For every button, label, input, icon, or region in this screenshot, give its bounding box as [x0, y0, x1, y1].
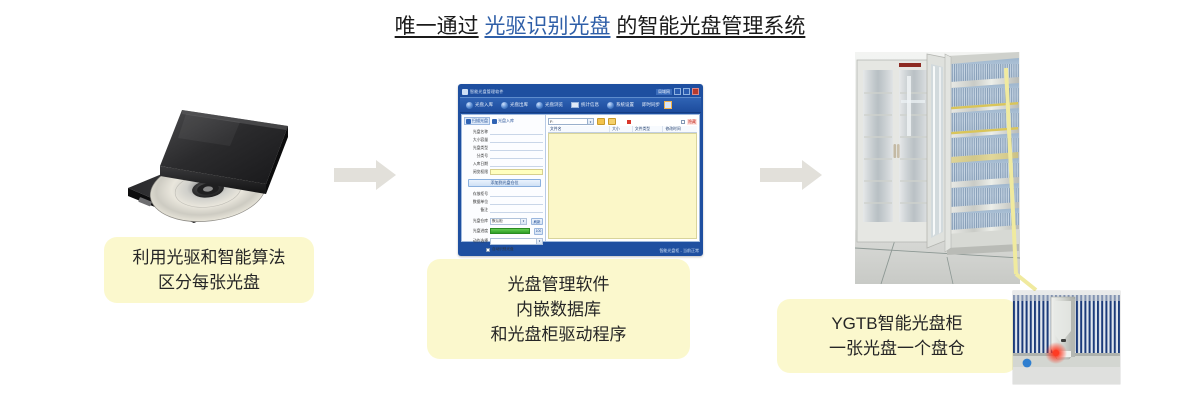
field-label: 大小容量 — [464, 138, 488, 143]
field-label: 光盘进度 — [464, 229, 488, 234]
chevron-down-icon: ▾ — [587, 119, 593, 124]
remark-input[interactable] — [490, 207, 543, 213]
drive-path-value: F: — [549, 120, 587, 124]
field-label: 分类号 — [464, 154, 488, 159]
field-label: 阅览权限 — [464, 170, 488, 175]
disc-store-value: 默认柜 — [491, 219, 520, 224]
folder-open-icon[interactable] — [608, 118, 616, 125]
field-capacity: 大小容量 — [464, 136, 543, 144]
page-title: 唯一通过 光驱识别光盘 的智能光盘管理系统 — [0, 14, 1200, 40]
column-header-size[interactable]: 大小 — [610, 126, 633, 132]
permission-input[interactable] — [490, 169, 543, 175]
field-label: 存放柜号 — [464, 192, 488, 197]
category-no-input[interactable] — [490, 153, 543, 159]
disc-type-input[interactable] — [490, 145, 543, 151]
field-progress: 光盘进度 100 — [464, 227, 543, 235]
app-status-bar: 智能光盘柜 - 当前正常 — [458, 245, 703, 256]
field-label: 数据单位 — [464, 200, 488, 205]
caption-left-line-1: 利用光驱和智能算法 — [133, 245, 286, 270]
disc-management-software-screenshot: 智能光盘管理软件 局域网 光盘入库 光盘出库 光盘浏览 — [458, 84, 703, 256]
field-permission: 阅览权限 — [464, 168, 543, 176]
gear-icon — [607, 102, 614, 109]
app-body: 扫描光盘 光盘入库 光盘名称 大小容量 光盘类型 — [461, 114, 700, 242]
field-in-date: 入库日期 — [464, 160, 543, 168]
caption-middle-line-2: 内嵌数据库 — [516, 297, 601, 322]
field-disc-type: 光盘类型 — [464, 144, 543, 152]
file-browser-panel: F: ▾ 隐藏 文件名 大小 文件类型 修改时间 — [546, 115, 699, 241]
title-part2: 的智能光盘管理系统 — [616, 15, 805, 38]
laser-led-icon — [1053, 350, 1059, 356]
field-label: 光盘名称 — [464, 130, 488, 135]
hide-files-label: 隐藏 — [687, 119, 697, 125]
disc-browse-icon — [536, 102, 543, 109]
app-titlebar-controls: 局域网 — [656, 88, 699, 95]
caption-left: 利用光驱和智能算法 区分每张光盘 — [104, 237, 314, 303]
field-data-unit: 数据单位 — [464, 198, 543, 206]
field-label: 光盘类型 — [464, 146, 488, 151]
maximize-button[interactable] — [683, 88, 690, 95]
optical-drive-photo — [120, 98, 325, 223]
caption-right-line-1: YGTB智能光盘柜 — [831, 311, 962, 336]
title-highlight: 光驱识别光盘 — [485, 15, 611, 38]
disc-in-icon — [466, 102, 473, 109]
record-icon[interactable] — [627, 120, 631, 124]
toolbar-button-stats[interactable]: 统计信息 — [567, 98, 603, 112]
title-part1: 唯一通过 — [395, 15, 479, 38]
file-list-body[interactable] — [548, 133, 697, 239]
minimize-button[interactable] — [674, 88, 681, 95]
field-cabinet-no: 存放柜号 — [464, 190, 543, 198]
app-toolbar: 光盘入库 光盘出库 光盘浏览 统计信息 系统设置 即时同步 — [460, 97, 701, 113]
field-label: 备注 — [464, 208, 488, 213]
toolbar-label: 光盘出库 — [510, 102, 528, 108]
stats-icon — [571, 102, 579, 108]
field-category-no: 分类号 — [464, 152, 543, 160]
scan-icon — [466, 119, 471, 124]
chevron-down-icon: ▾ — [520, 219, 526, 224]
close-button[interactable] — [692, 88, 699, 95]
add-to-slot-button[interactable]: 添加到光盘仓位 — [468, 179, 541, 187]
field-label: 光盘仓库 — [464, 219, 488, 224]
sensor-indicator-icon — [1023, 359, 1032, 368]
toolbar-label: 光盘入库 — [475, 102, 493, 108]
cabinet-closed-left — [857, 60, 935, 242]
sync-icon — [664, 101, 672, 109]
drive-path-select[interactable]: F: ▾ — [548, 118, 594, 125]
progress-number: 100 — [536, 229, 542, 233]
tab-scan-disc[interactable]: 扫描光盘 — [464, 117, 490, 125]
column-header-modified[interactable]: 修改时间 — [663, 126, 697, 132]
caption-right-line-2: 一张光盘一个盘仓 — [829, 336, 965, 361]
status-text: 智能光盘柜 - 当前正常 — [659, 248, 699, 254]
tab-label: 光盘入库 — [498, 118, 514, 124]
caption-middle-line-3: 和光盘柜驱动程序 — [491, 322, 627, 347]
caption-middle-line-1: 光盘管理软件 — [508, 272, 610, 297]
progress-value: 100 — [534, 228, 543, 235]
cabinet-open-shelves — [945, 52, 1019, 255]
file-browser-toolbar: F: ▾ 隐藏 — [548, 117, 697, 126]
file-list-header: 文件名 大小 文件类型 修改时间 — [548, 126, 697, 133]
diagram-canvas: 唯一通过 光驱识别光盘 的智能光盘管理系统 — [0, 0, 1200, 400]
field-label: 动作选择 — [464, 239, 488, 244]
panel-tabs: 扫描光盘 光盘入库 — [464, 117, 543, 125]
disc-store-select[interactable]: 默认柜 ▾ — [490, 218, 527, 225]
toolbar-label: 即时同步 — [642, 102, 660, 108]
caption-right: YGTB智能光盘柜 一张光盘一个盘仓 — [777, 299, 1017, 373]
toolbar-button-disc-browse[interactable]: 光盘浏览 — [532, 98, 567, 112]
toolbar-button-disc-in[interactable]: 光盘入库 — [462, 98, 497, 112]
refresh-button[interactable]: 刷新 — [531, 218, 543, 225]
column-header-filetype[interactable]: 文件类型 — [633, 126, 664, 132]
disc-name-input[interactable] — [490, 129, 543, 135]
network-mode-badge: 局域网 — [656, 89, 672, 95]
field-remark: 备注 — [464, 206, 543, 214]
cabinet-no-input[interactable] — [490, 191, 543, 197]
file-filter-group: 隐藏 — [681, 119, 697, 125]
disc-slot-detail-inset — [1013, 291, 1120, 384]
cabinet-open-door — [927, 54, 947, 248]
tab-label: 扫描光盘 — [472, 118, 488, 124]
app-window-title: 智能光盘管理软件 — [470, 89, 504, 95]
disc-form-panel: 扫描光盘 光盘入库 光盘名称 大小容量 光盘类型 — [462, 115, 546, 241]
disc-out-icon — [501, 102, 508, 109]
toolbar-label: 统计信息 — [581, 102, 599, 108]
action-select[interactable]: ▾ — [490, 238, 543, 245]
chevron-down-icon: ▾ — [536, 239, 542, 244]
data-unit-input[interactable] — [490, 199, 543, 205]
disc-cabinet-photo — [855, 52, 1020, 284]
field-action: 动作选择 ▾ — [464, 237, 543, 245]
toolbar-button-disc-out[interactable]: 光盘出库 — [497, 98, 532, 112]
capacity-input[interactable] — [490, 137, 543, 143]
arrow-drive-to-software — [334, 158, 398, 192]
toolbar-button-sync[interactable]: 即时同步 — [638, 98, 676, 112]
toolbar-button-settings[interactable]: 系统设置 — [603, 98, 638, 112]
hide-files-checkbox[interactable] — [681, 120, 685, 124]
arrow-software-to-cabinet — [760, 158, 824, 192]
toolbar-label: 系统设置 — [616, 102, 634, 108]
field-disc-store: 光盘仓库 默认柜 ▾ 刷新 — [464, 217, 543, 225]
disc-in-icon — [492, 119, 497, 124]
caption-middle: 光盘管理软件 内嵌数据库 和光盘柜驱动程序 — [427, 259, 690, 359]
field-label: 入库日期 — [464, 162, 488, 167]
in-date-input[interactable] — [490, 161, 543, 167]
progress-bar — [490, 228, 530, 234]
tab-disc-in[interactable]: 光盘入库 — [492, 118, 514, 124]
app-logo-icon — [462, 89, 468, 95]
toolbar-label: 光盘浏览 — [545, 102, 563, 108]
column-header-filename[interactable]: 文件名 — [548, 126, 610, 132]
folder-icon[interactable] — [597, 118, 605, 125]
app-titlebar: 智能光盘管理软件 局域网 — [460, 86, 701, 97]
caption-left-line-2: 区分每张光盘 — [158, 270, 260, 295]
field-disc-name: 光盘名称 — [464, 128, 543, 136]
